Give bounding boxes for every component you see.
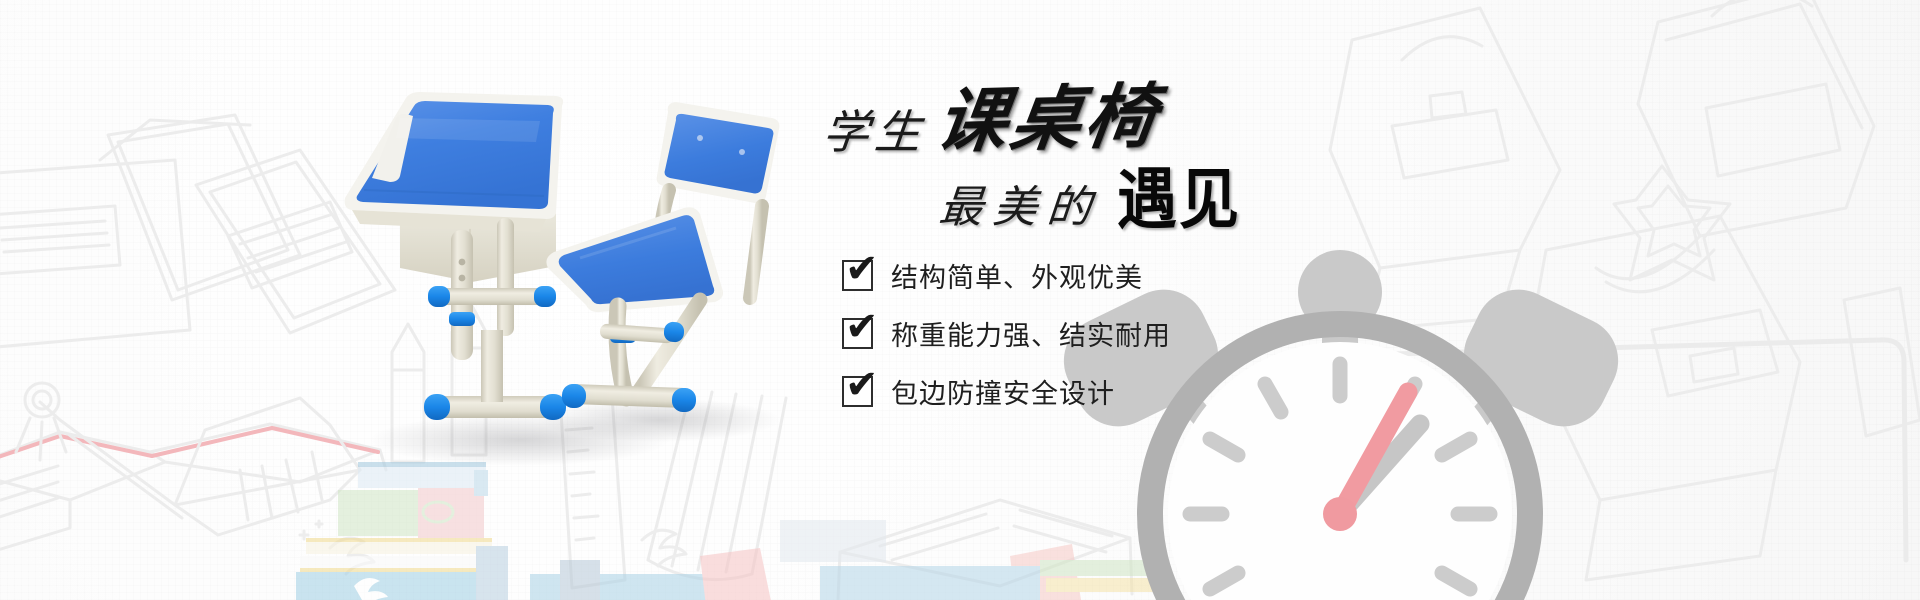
feature-list: ✔ 结构简单、外观优美 ✔ 称重能力强、结实耐用 ✔ 包边防撞安全设计 (842, 254, 1171, 428)
desk-leg-rear (497, 218, 514, 336)
desk-crossbar-cap-left (428, 286, 450, 307)
feature-item: ✔ 包边防撞安全设计 (842, 370, 1171, 412)
chair-foot-cap-left (562, 384, 587, 409)
headline-keyword: 课桌椅 (932, 83, 1164, 159)
headline-line-2: 最美的 遇见 (939, 170, 1241, 230)
desk-crossbar-cap-right (534, 286, 556, 307)
headline-prefix: 学生 (821, 110, 930, 156)
feature-item: ✔ 称重能力强、结实耐用 (842, 312, 1171, 354)
chair-back-screw-1 (697, 135, 703, 141)
checkbox-checked-icon: ✔ (842, 318, 873, 349)
chair-leg-front (617, 306, 626, 398)
feature-item: ✔ 结构简单、外观优美 (842, 254, 1171, 296)
desk-leg-collar (449, 312, 475, 326)
feature-label: 结构简单、外观优美 (891, 256, 1143, 295)
promo-banner: 学生 课桌椅 最美的 遇见 ✔ 结构简单、外观优美 ✔ 称重能力强、结实耐用 (0, 0, 1920, 600)
headline-line-1: 学生 课桌椅 (823, 86, 1159, 156)
chair-back-post-right (750, 206, 762, 298)
check-glyph: ✔ (845, 252, 879, 286)
chair-back-screw-2 (739, 149, 745, 155)
checkbox-checked-icon: ✔ (842, 260, 873, 291)
desk-foot-cap-left (424, 394, 450, 420)
feature-label: 称重能力强、结实耐用 (891, 314, 1171, 353)
desk-foot-post (481, 330, 503, 402)
feature-label: 包边防撞安全设计 (891, 372, 1115, 411)
subheadline-prefix: 最美的 (937, 186, 1103, 230)
chair-foot-cap-right (672, 388, 697, 413)
check-glyph: ✔ (845, 368, 879, 402)
check-glyph: ✔ (845, 310, 879, 344)
checkbox-checked-icon: ✔ (842, 376, 873, 407)
copy-block: 学生 课桌椅 最美的 遇见 ✔ 结构简单、外观优美 ✔ 称重能力强、结实耐用 (815, 86, 1455, 406)
chair-leg-cross (640, 300, 700, 390)
subheadline-keyword: 遇见 (1117, 167, 1241, 233)
